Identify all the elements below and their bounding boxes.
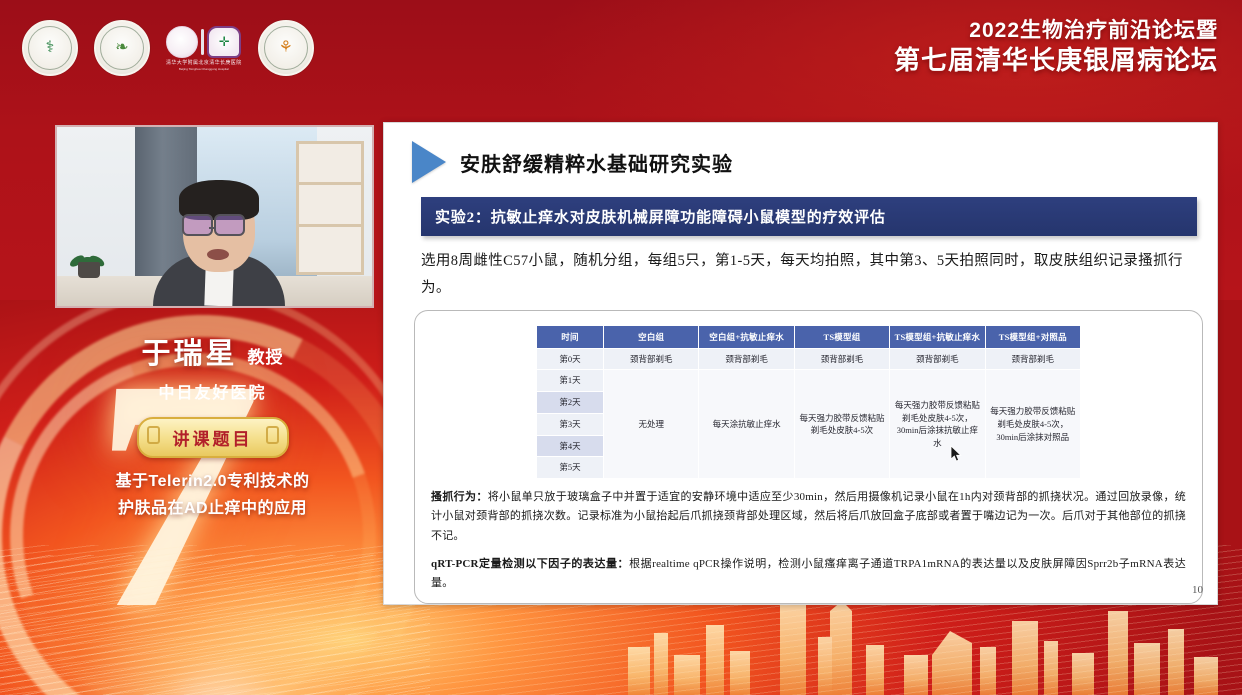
logo-disc-icon xyxy=(166,26,198,58)
table-cell-treatment-blank-plus: 每天涂抗敏止痒水 xyxy=(699,370,794,479)
table-cell-time: 第0天 xyxy=(537,348,604,370)
speaker-organization: 中日友好医院 xyxy=(55,379,370,403)
table-header-cell: TS模型组+抗敏止痒水 xyxy=(890,325,985,348)
shelf-divider xyxy=(299,224,361,227)
hospital-logo-1-icon: ⚕ xyxy=(22,20,78,76)
conference-title-line2: 第七届清华长庚银屑病论坛 xyxy=(894,44,1218,77)
logo-glyph: ❧ xyxy=(115,40,128,56)
scratch-behavior-label: 搔抓行为： xyxy=(431,491,488,503)
lecture-badge-wrap: 讲课题目 xyxy=(55,417,370,458)
scratch-behavior-text: 将小鼠单只放于玻璃盒子中并置于适宜的安静环境中适应至少30min，然后用摄像机记… xyxy=(431,491,1186,542)
glasses-bridge xyxy=(209,227,216,229)
logo-hospital-name-en: Beijing Tsinghua Changgung Hospital xyxy=(179,67,229,71)
table-row: 第1天 无处理 每天涂抗敏止痒水 每天强力胶带反馈粘贴剃毛处皮肤4-5次 每天强… xyxy=(537,370,1081,392)
play-triangle-icon xyxy=(412,141,446,183)
table-cell: 颈背部剃毛 xyxy=(794,348,889,370)
experiment-banner: 实验2：抗敏止痒水对皮肤机械屏障功能障碍小鼠模型的疗效评估 xyxy=(421,197,1197,236)
logo-emblem-row: ✛ xyxy=(166,26,241,58)
broadcast-stage: 7 xyxy=(0,0,1242,695)
logo-shield-icon: ✛ xyxy=(207,26,241,58)
slide-title: 安肤舒缓精粹水基础研究实验 xyxy=(460,148,733,177)
conference-title-line1: 2022生物治疗前沿论坛暨 xyxy=(894,18,1218,44)
lecture-topic-line2: 护肤品在AD止痒中的应用 xyxy=(55,497,370,522)
speaker-name-row: 于瑞星 教授 xyxy=(55,330,370,372)
table-cell-treatment-ts-model-control: 每天强力胶带反馈粘贴剃毛处皮肤4-5次，30min后涂抹对照品 xyxy=(985,370,1080,479)
table-header-cell: 时间 xyxy=(537,325,604,348)
lecture-topic-badge: 讲课题目 xyxy=(137,417,289,458)
lecture-topic-line1: 基于Telerin2.0专利技术的 xyxy=(55,470,370,495)
hospital-logo-2-icon: ❧ xyxy=(94,20,150,76)
video-bookshelf xyxy=(296,141,364,275)
logo-glyph: ⚕ xyxy=(46,40,55,56)
table-header-cell: 空白组+抗敏止痒水 xyxy=(699,325,794,348)
table-header-cell: TS模型组 xyxy=(794,325,889,348)
experiment-intro-paragraph: 选用8周雌性C57小鼠，随机分组，每组5只，第1-5天，每天均拍照，其中第3、5… xyxy=(421,248,1195,302)
table-cell-time: 第5天 xyxy=(537,457,604,479)
slide-header: 安肤舒缓精粹水基础研究实验 xyxy=(384,123,1217,183)
qrt-pcr-label: qRT-PCR定量检测以下因子的表达量： xyxy=(431,558,629,570)
shelf-divider xyxy=(299,182,361,185)
speaker-name: 于瑞星 xyxy=(141,330,237,372)
table-cell-time: 第2天 xyxy=(537,392,604,414)
logo-glyph: ⚘ xyxy=(278,40,292,56)
conference-title: 2022生物治疗前沿论坛暨 第七届清华长庚银屑病论坛 xyxy=(894,18,1218,77)
table-cell: 颈背部剃毛 xyxy=(890,348,985,370)
table-header-cell: 空白组 xyxy=(604,325,699,348)
organizer-logo-row: ⚕ ❧ ✛ 清华大学附属北京清华长庚医院 Beijing Tsinghua Ch… xyxy=(22,20,314,76)
speaker-video-feed[interactable] xyxy=(55,125,374,308)
table-cell: 颈背部剃毛 xyxy=(699,348,794,370)
table-cell-time: 第3天 xyxy=(537,413,604,435)
video-plant-icon xyxy=(69,236,109,278)
plant-pot xyxy=(78,262,100,278)
speaker-mouth xyxy=(207,249,229,260)
scratch-behavior-note: 搔抓行为：将小鼠单只放于玻璃盒子中并置于适宜的安静环境中适应至少30min，然后… xyxy=(431,488,1186,546)
speaker-glasses-icon xyxy=(214,214,245,236)
table-cell-treatment-ts-model: 每天强力胶带反馈粘贴剃毛处皮肤4-5次 xyxy=(794,370,889,479)
table-cell: 颈背部剃毛 xyxy=(985,348,1080,370)
hospital-logo-4-icon: ⚘ xyxy=(258,20,314,76)
table-header-cell: TS模型组+对照品 xyxy=(985,325,1080,348)
experiment-schedule-table: 时间 空白组 空白组+抗敏止痒水 TS模型组 TS模型组+抗敏止痒水 TS模型组… xyxy=(536,325,1081,480)
experiment-detail-panel: 时间 空白组 空白组+抗敏止痒水 TS模型组 TS模型组+抗敏止痒水 TS模型组… xyxy=(414,310,1203,605)
table-cell: 颈背部剃毛 xyxy=(604,348,699,370)
table-cell-treatment-blank: 无处理 xyxy=(604,370,699,479)
logo-divider xyxy=(201,29,204,55)
qrt-pcr-note: qRT-PCR定量检测以下因子的表达量：根据realtime qPCR操作说明，… xyxy=(431,555,1186,594)
speaker-glasses-icon xyxy=(182,214,213,236)
slide-page-number: 10 xyxy=(1192,584,1203,596)
presentation-slide[interactable]: 安肤舒缓精粹水基础研究实验 实验2：抗敏止痒水对皮肤机械屏障功能障碍小鼠模型的疗… xyxy=(383,122,1218,605)
tsinghua-changgung-logo-icon: ✛ 清华大学附属北京清华长庚医院 Beijing Tsinghua Changg… xyxy=(166,22,242,74)
speaker-info-panel: 于瑞星 教授 中日友好医院 讲课题目 基于Telerin2.0专利技术的 护肤品… xyxy=(55,330,370,522)
speaker-rank: 教授 xyxy=(248,343,284,368)
table-header-row: 时间 空白组 空白组+抗敏止痒水 TS模型组 TS模型组+抗敏止痒水 TS模型组… xyxy=(537,325,1081,348)
logo-cross-glyph: ✛ xyxy=(219,35,230,48)
video-speaker-figure xyxy=(153,178,285,306)
table-cell-treatment-ts-model-plus: 每天强力胶带反馈粘贴剃毛处皮肤4-5次，30min后涂抹抗敏止痒水 xyxy=(890,370,985,479)
table-cell-time: 第1天 xyxy=(537,370,604,392)
table-cell-time: 第4天 xyxy=(537,435,604,457)
logo-hospital-name: 清华大学附属北京清华长庚医院 xyxy=(166,59,242,66)
table-row: 第0天 颈背部剃毛 颈背部剃毛 颈背部剃毛 颈背部剃毛 颈背部剃毛 xyxy=(537,348,1081,370)
